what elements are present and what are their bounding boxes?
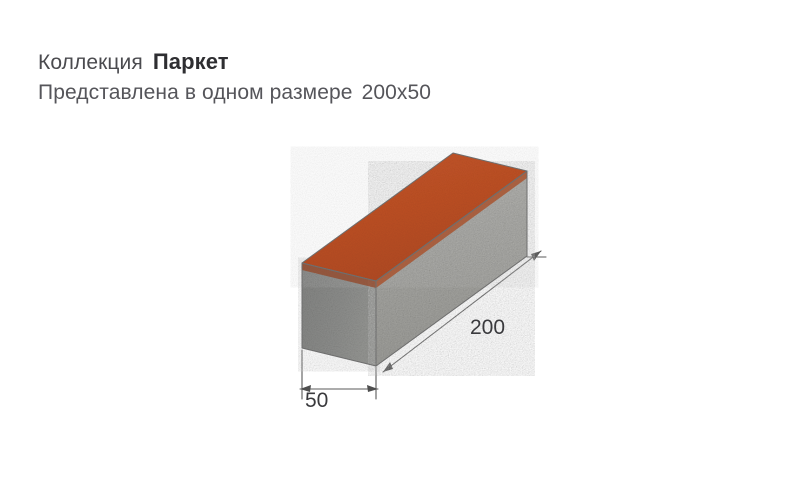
paving-stone-illustration: 200 50	[0, 0, 800, 496]
arrowhead-length-near	[383, 362, 393, 372]
arrowhead-length-far	[531, 251, 541, 261]
dimension-label-width: 50	[305, 389, 328, 412]
page-root: КоллекцияПаркет Представлена в одном раз…	[0, 0, 800, 496]
dimension-label-length: 200	[470, 316, 505, 339]
